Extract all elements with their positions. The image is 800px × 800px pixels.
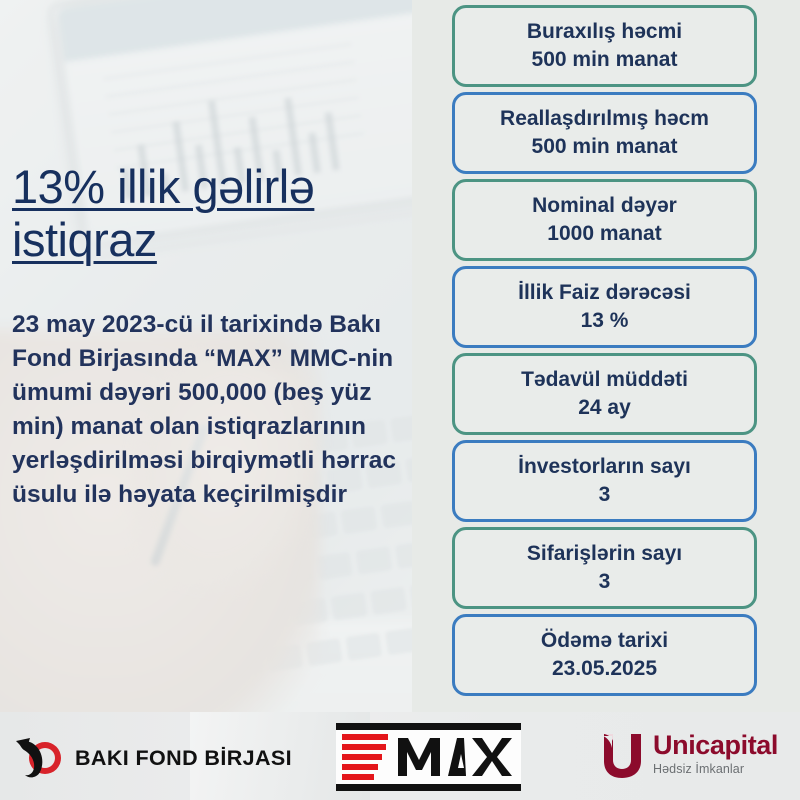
bfb-logo: BAKI FOND BİRJASI: [14, 734, 292, 782]
footer-logo-bar: BAKI FOND BİRJASI: [0, 712, 800, 800]
detail-card: İnvestorların sayı3: [452, 440, 757, 522]
detail-card-value: 3: [599, 481, 611, 509]
detail-card: Ödəmə tarixi23.05.2025: [452, 614, 757, 696]
detail-card: Reallaşdırılmış həcm500 min manat: [452, 92, 757, 174]
max-bars-icon: [342, 734, 388, 780]
detail-card-label: Buraxılış həcmi: [527, 18, 682, 46]
left-photo-panel: 13% illik gəlirlə istiqraz 23 may 2023-c…: [0, 0, 412, 712]
max-logo-wordmark: [388, 736, 521, 778]
detail-card-value: 23.05.2025: [552, 655, 657, 683]
detail-card-label: Ödəmə tarixi: [541, 627, 668, 655]
bfb-swoosh-icon: [14, 734, 66, 782]
detail-card-label: Tədavül müddəti: [521, 366, 688, 394]
detail-card: Buraxılış həcmi500 min manat: [452, 5, 757, 87]
max-wordmark-svg: [396, 736, 514, 778]
detail-card-value: 3: [599, 568, 611, 596]
page-title: 13% illik gəlirlə istiqraz: [12, 160, 412, 266]
headline-line-1: 13% illik gəlirlə: [12, 160, 314, 213]
detail-card-value: 1000 manat: [547, 220, 661, 248]
detail-card: Nominal dəyər1000 manat: [452, 179, 757, 261]
unicapital-u-icon: [600, 732, 645, 785]
detail-card-value: 500 min manat: [532, 133, 678, 161]
detail-card-value: 13 %: [581, 307, 629, 335]
headline-line-2: istiqraz: [12, 213, 157, 266]
poster: 13% illik gəlirlə istiqraz 23 may 2023-c…: [0, 0, 800, 800]
detail-card: Sifarişlərin sayı3: [452, 527, 757, 609]
detail-card-label: İllik Faiz dərəcəsi: [518, 279, 691, 307]
details-card-list: Buraxılış həcmi500 min manatReallaşdırıl…: [452, 5, 760, 701]
unicapital-logo: Unicapital Hədsiz İmkanlar: [600, 732, 778, 785]
detail-card: Tədavül müddəti24 ay: [452, 353, 757, 435]
detail-card-value: 500 min manat: [532, 46, 678, 74]
detail-card-label: İnvestorların sayı: [518, 453, 691, 481]
detail-card-value: 24 ay: [578, 394, 631, 422]
detail-card-label: Nominal dəyər: [532, 192, 677, 220]
detail-card-label: Sifarişlərin sayı: [527, 540, 682, 568]
description-text: 23 may 2023-cü il tarixində Bakı Fond Bi…: [12, 308, 412, 512]
unicapital-text-block: Unicapital Hədsiz İmkanlar: [653, 732, 778, 776]
detail-card-label: Reallaşdırılmış həcm: [500, 105, 709, 133]
bfb-logo-text: BAKI FOND BİRJASI: [75, 746, 292, 771]
max-logo: [336, 723, 521, 791]
unicapital-tagline: Hədsiz İmkanlar: [653, 763, 778, 776]
unicapital-name: Unicapital: [653, 732, 778, 759]
detail-card: İllik Faiz dərəcəsi13 %: [452, 266, 757, 348]
